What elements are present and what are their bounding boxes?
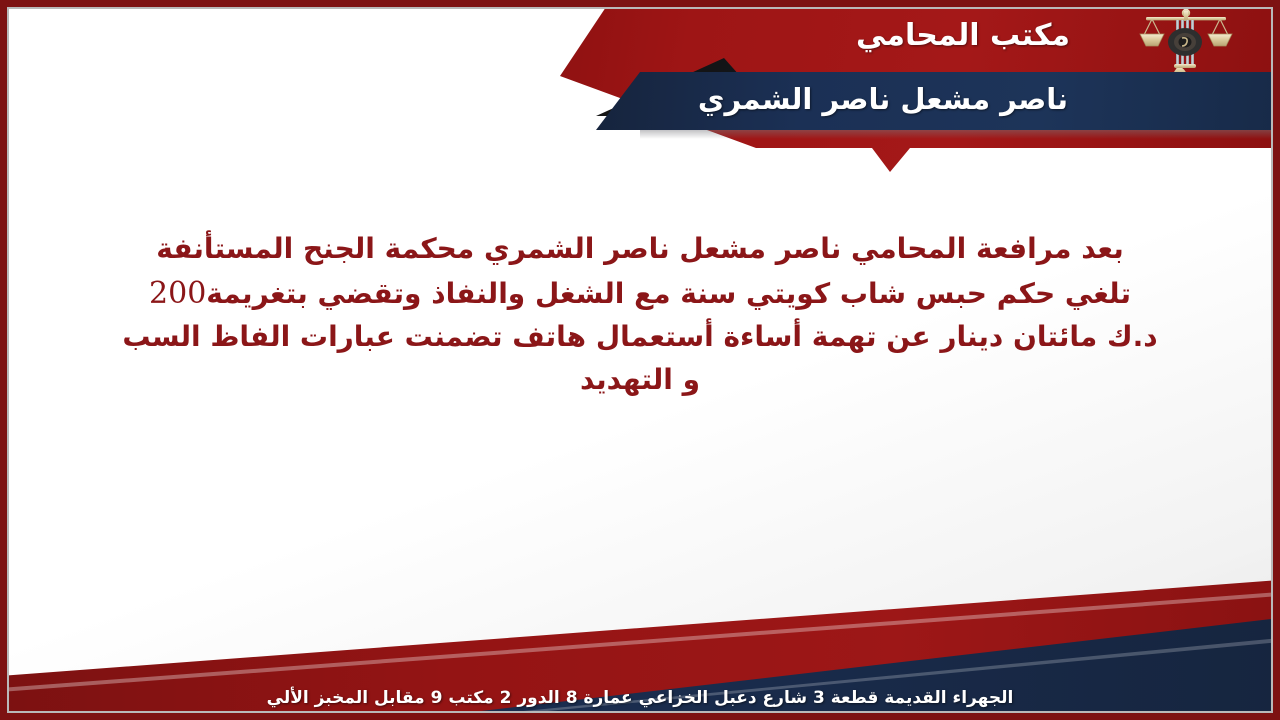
announcement-text: بعد مرافعة المحامي ناصر مشعل ناصر الشمري… <box>62 228 1218 401</box>
announcement-line-3: د.ك مائتان دينار عن تهمة أساءة أستعمال ه… <box>62 316 1218 359</box>
footer-banner: الجهراء القديمة قطعة 3 شارع دعبل الخزاعي… <box>0 580 1280 720</box>
scales-of-justice-icon <box>1130 2 1242 82</box>
header-banner: مكتب المحامي ناصر مشعل ناصر الشمري <box>0 0 1280 190</box>
announcement-line-2-text: تلغي حكم حبس شاب كويتي سنة مع الشغل والن… <box>206 277 1131 310</box>
office-title: مكتب المحامي <box>856 18 1070 53</box>
navy-band-shadow <box>640 130 1280 139</box>
lawyer-name: ناصر مشعل ناصر الشمري <box>698 82 1068 116</box>
office-address: الجهراء القديمة قطعة 3 شارع دعبل الخزاعي… <box>0 688 1280 708</box>
announcement-line-1: بعد مرافعة المحامي ناصر مشعل ناصر الشمري… <box>62 228 1218 271</box>
announcement-line-2: تلغي حكم حبس شاب كويتي سنة مع الشغل والن… <box>62 271 1218 317</box>
announcement-line-4: و التهديد <box>62 359 1218 402</box>
slide-canvas: مكتب المحامي ناصر مشعل ناصر الشمري بعد م… <box>0 0 1280 720</box>
fine-amount: 200 <box>149 276 206 311</box>
